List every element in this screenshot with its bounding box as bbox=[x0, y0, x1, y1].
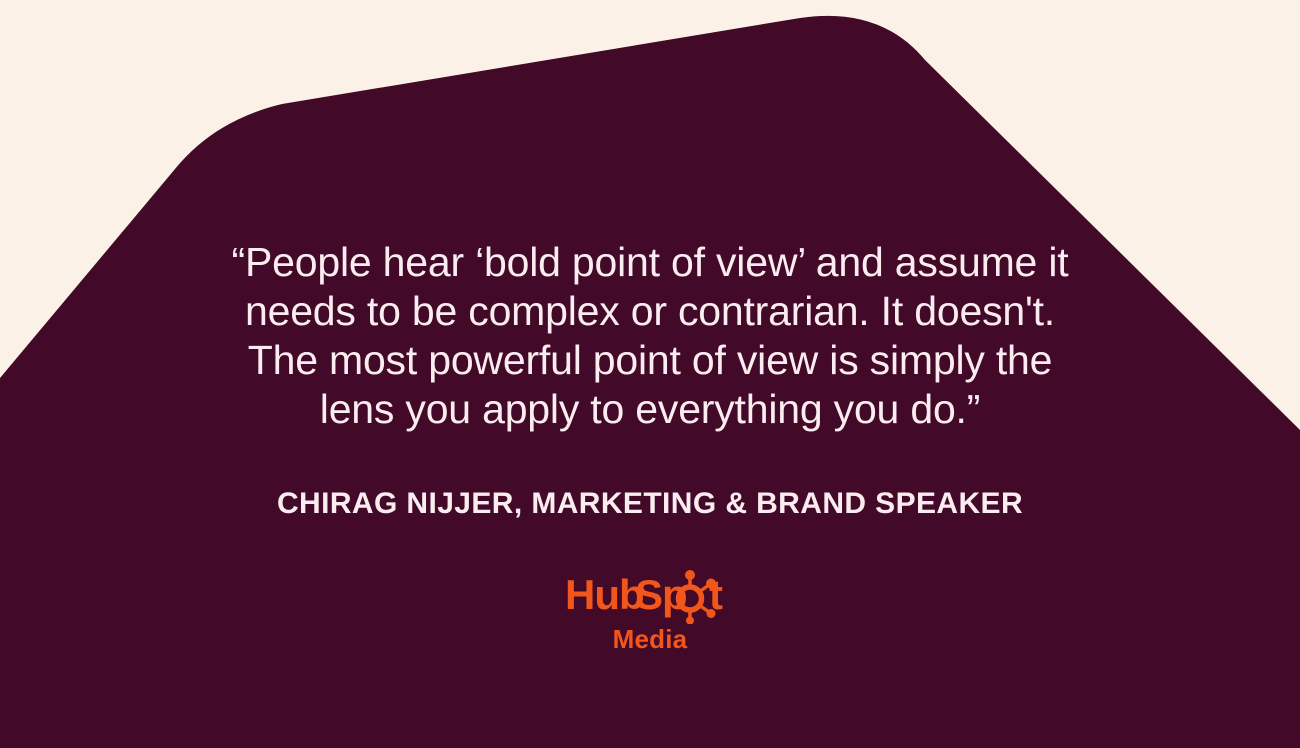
quote-line-1: “People hear ‘bold point of view’ and as… bbox=[180, 238, 1120, 287]
quote-line-2: needs to be complex or contrarian. It do… bbox=[180, 287, 1120, 336]
quote-line-4: lens you apply to everything you do.” bbox=[180, 385, 1120, 434]
hubspot-media-logo: Hub Sp t Media bbox=[565, 570, 735, 652]
quote-attribution: CHIRAG NIJJER, MARKETING & BRAND SPEAKER bbox=[150, 487, 1150, 521]
hubspot-wordmark: Hub Sp t bbox=[565, 570, 735, 624]
hubspot-wordmark-text: Hub bbox=[565, 571, 644, 618]
logo-sub-label: Media bbox=[613, 626, 688, 652]
quote-card: “People hear ‘bold point of view’ and as… bbox=[0, 0, 1300, 748]
quote-block: “People hear ‘bold point of view’ and as… bbox=[180, 238, 1120, 434]
quote-line-3: The most powerful point of view is simpl… bbox=[180, 336, 1120, 385]
card-content: “People hear ‘bold point of view’ and as… bbox=[0, 0, 1300, 748]
